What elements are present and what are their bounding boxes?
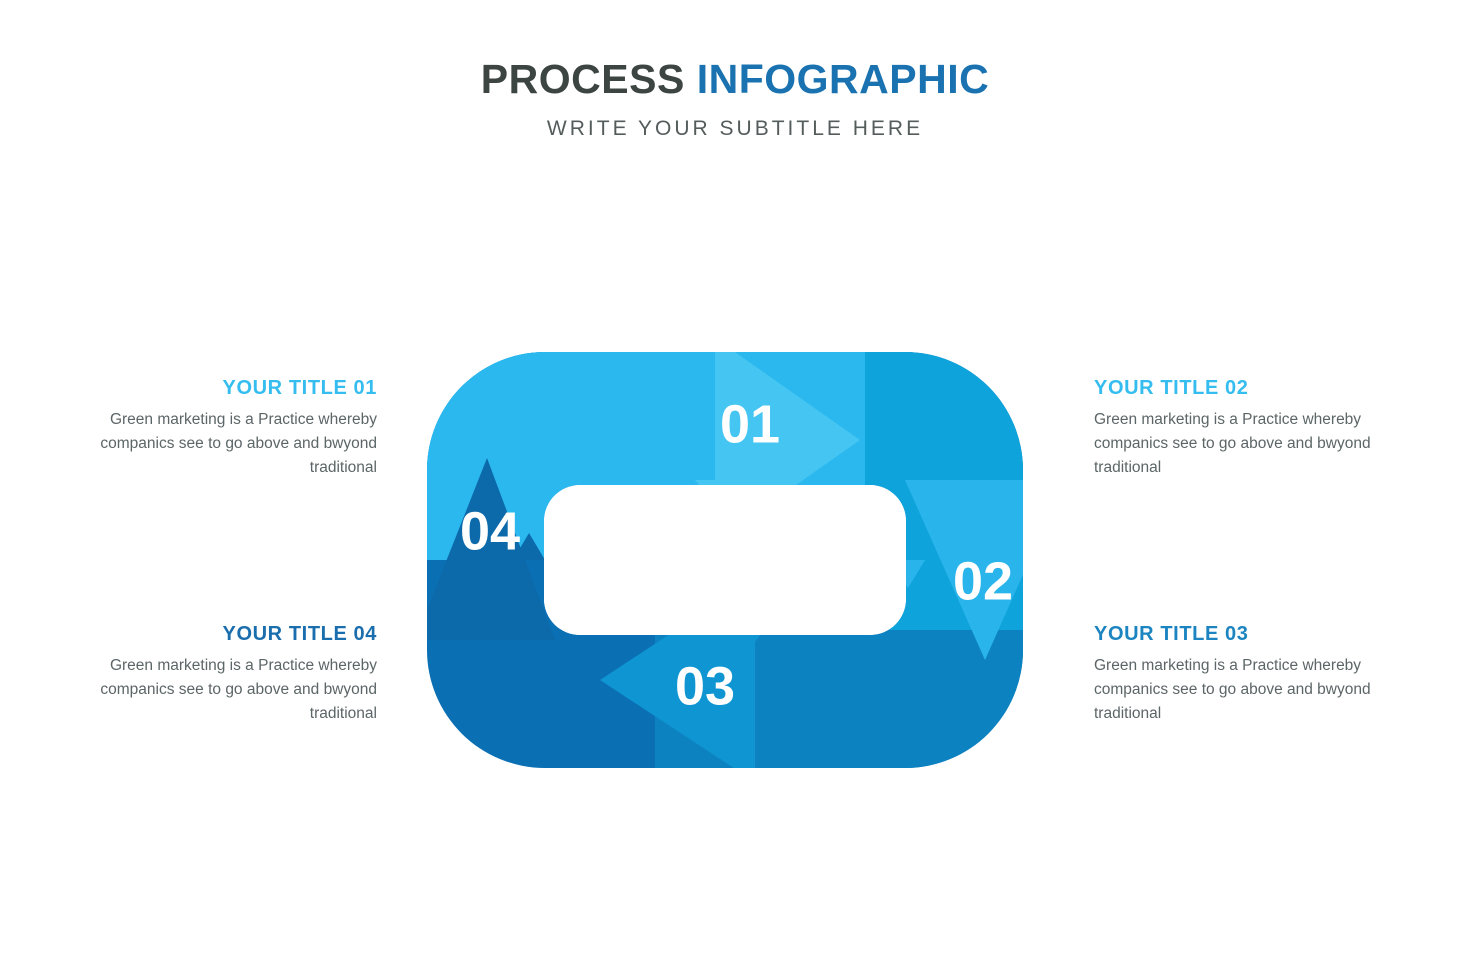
step-number-01: 01 [720,394,780,454]
step-body-04: Green marketing is a Practice whereby co… [87,654,377,726]
step-title-03: YOUR TITLE 03 [1094,623,1384,645]
step-number-02: 02 [953,551,1013,611]
page-subtitle: WRITE YOUR SUBTITLE HERE [0,117,1470,141]
step-body-01: Green marketing is a Practice whereby co… [87,408,377,480]
header: PROCESS INFOGRAPHIC WRITE YOUR SUBTITLE … [0,58,1470,141]
title-word-process: PROCESS [481,56,685,102]
title-word-infographic: INFOGRAPHIC [697,56,990,102]
step-title-02: YOUR TITLE 02 [1094,377,1384,399]
step-text-block-01: YOUR TITLE 01 Green marketing is a Pract… [87,377,377,480]
step-body-03: Green marketing is a Practice whereby co… [1094,654,1384,726]
page-title: PROCESS INFOGRAPHIC [0,58,1470,101]
process-ring-diagram: 01 02 03 04 [405,330,1065,790]
center-panel[interactable] [544,485,906,635]
step-title-01: YOUR TITLE 01 [87,377,377,399]
step-number-04: 04 [460,501,520,561]
step-text-block-04: YOUR TITLE 04 Green marketing is a Pract… [87,623,377,726]
step-text-block-02: YOUR TITLE 02 Green marketing is a Pract… [1094,377,1384,480]
step-text-block-03: YOUR TITLE 03 Green marketing is a Pract… [1094,623,1384,726]
step-number-03: 03 [675,656,735,716]
step-title-04: YOUR TITLE 04 [87,623,377,645]
step-body-02: Green marketing is a Practice whereby co… [1094,408,1384,480]
